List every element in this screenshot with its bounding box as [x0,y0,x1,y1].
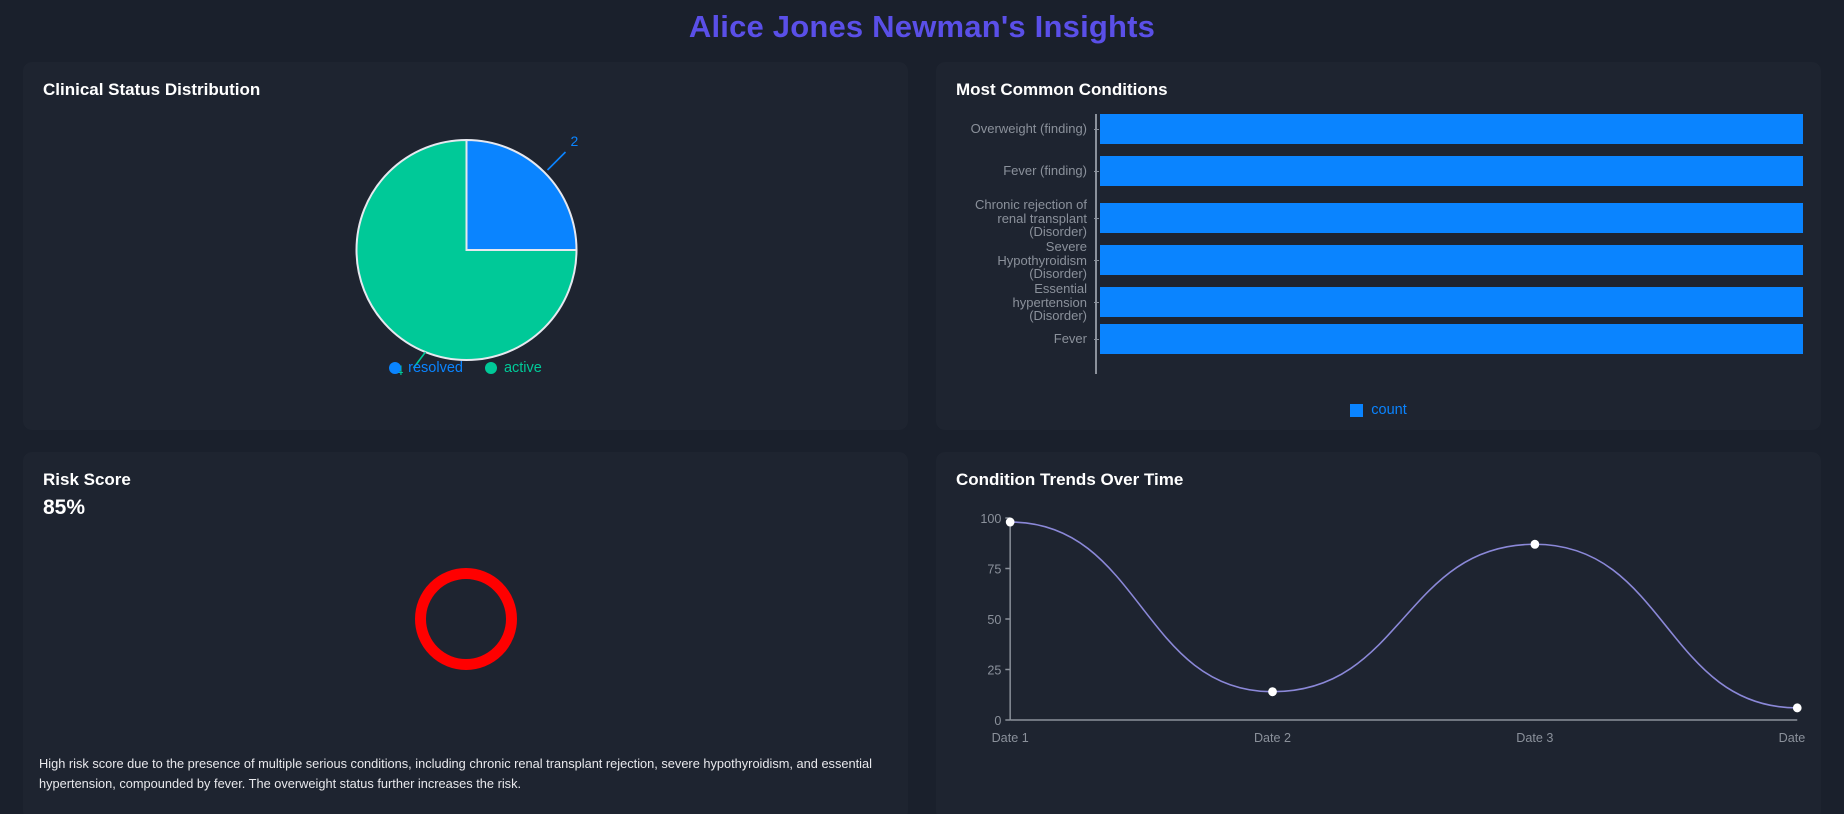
bar-fill[interactable] [1100,156,1803,186]
bar-category-label: Severe Hypothyroidism (Disorder) [952,240,1094,281]
line-data-point[interactable] [1268,687,1277,696]
bar-category-label: Fever (finding) [952,164,1094,178]
card-title-bar: Most Common Conditions [956,80,1805,100]
risk-description: High risk score due to the presence of m… [39,754,890,794]
bar-chart: Overweight (finding)Fever (finding)Chron… [952,114,1805,374]
bar-fill[interactable] [1100,114,1803,144]
x-axis-tick-label: Date 2 [1254,730,1291,745]
y-axis-tick-label: 75 [987,561,1001,576]
legend-item-resolved[interactable]: resolved [389,360,463,376]
bar-row[interactable]: Fever [952,324,1805,354]
page-title: Alice Jones Newman's Insights [0,0,1844,45]
legend-label-active: active [504,360,542,376]
bar-fill[interactable] [1100,287,1803,317]
bar-category-label: Essential hypertension (Disorder) [952,282,1094,323]
x-axis-tick-label: Date 3 [1516,730,1553,745]
card-clinical-status-distribution: Clinical Status Distribution 2 4 resolve… [23,62,908,430]
bar-axis-tick [1094,302,1099,303]
x-axis-tick-label: Date 1 [992,730,1029,745]
y-axis-tick-label: 0 [994,713,1001,728]
bar-axis-tick [1094,171,1099,172]
pie-leader-line-resolved [548,152,566,170]
bar-category-label: Chronic rejection of renal transplant (D… [952,198,1094,239]
card-title-risk: Risk Score [43,470,892,490]
risk-score-value: 85% [43,496,892,520]
pie-value-resolved: 2 [571,133,579,149]
bar-axis-tick [1094,218,1099,219]
bar-fill[interactable] [1100,324,1803,354]
card-condition-trends: Condition Trends Over Time 0255075100Dat… [936,452,1821,814]
line-data-point[interactable] [1531,540,1540,549]
y-axis-tick-label: 25 [987,662,1001,677]
y-axis-tick-label: 100 [980,511,1001,526]
bar-row[interactable]: Fever (finding) [952,156,1805,186]
pie-chart: 2 4 resolved active [39,100,892,390]
bar-legend: count [936,402,1821,418]
y-axis-tick-label: 50 [987,612,1001,627]
card-grid: Clinical Status Distribution 2 4 resolve… [23,62,1821,814]
bar-category-label: Overweight (finding) [952,122,1094,136]
x-axis-tick-label: Date 4 [1779,730,1805,745]
legend-label-count: count [1371,402,1406,418]
line-data-point[interactable] [1006,518,1015,527]
line-data-point[interactable] [1793,703,1802,712]
bar-axis-tick [1094,129,1099,130]
bar-axis-tick [1094,260,1099,261]
dashboard-root: Alice Jones Newman's Insights Clinical S… [0,0,1844,814]
risk-ring-icon [415,568,517,670]
legend-swatch-count-icon [1350,404,1363,417]
line-chart-svg: 0255075100Date 1Date 2Date 3Date 4 [952,502,1805,774]
bar-axis-tick [1094,339,1099,340]
risk-gauge [39,568,892,670]
bar-category-label: Fever [952,332,1094,346]
legend-label-resolved: resolved [408,360,463,376]
bar-fill[interactable] [1100,203,1803,233]
card-most-common-conditions: Most Common Conditions Overweight (findi… [936,62,1821,430]
line-chart: 0255075100Date 1Date 2Date 3Date 4 [952,502,1805,774]
pie-legend: resolved active [39,360,892,376]
legend-dot-resolved-icon [389,362,401,374]
bar-row[interactable]: Overweight (finding) [952,114,1805,144]
bar-fill[interactable] [1100,245,1803,275]
card-risk-score: Risk Score 85% High risk score due to th… [23,452,908,814]
line-series-path[interactable] [1010,522,1797,708]
card-title-pie: Clinical Status Distribution [43,80,892,100]
bar-row[interactable]: Chronic rejection of renal transplant (D… [952,198,1805,239]
legend-dot-active-icon [485,362,497,374]
pie-chart-svg: 2 4 [39,100,892,390]
bar-row[interactable]: Severe Hypothyroidism (Disorder) [952,240,1805,281]
legend-item-active[interactable]: active [485,360,542,376]
bar-row[interactable]: Essential hypertension (Disorder) [952,282,1805,323]
card-title-line: Condition Trends Over Time [956,470,1805,490]
